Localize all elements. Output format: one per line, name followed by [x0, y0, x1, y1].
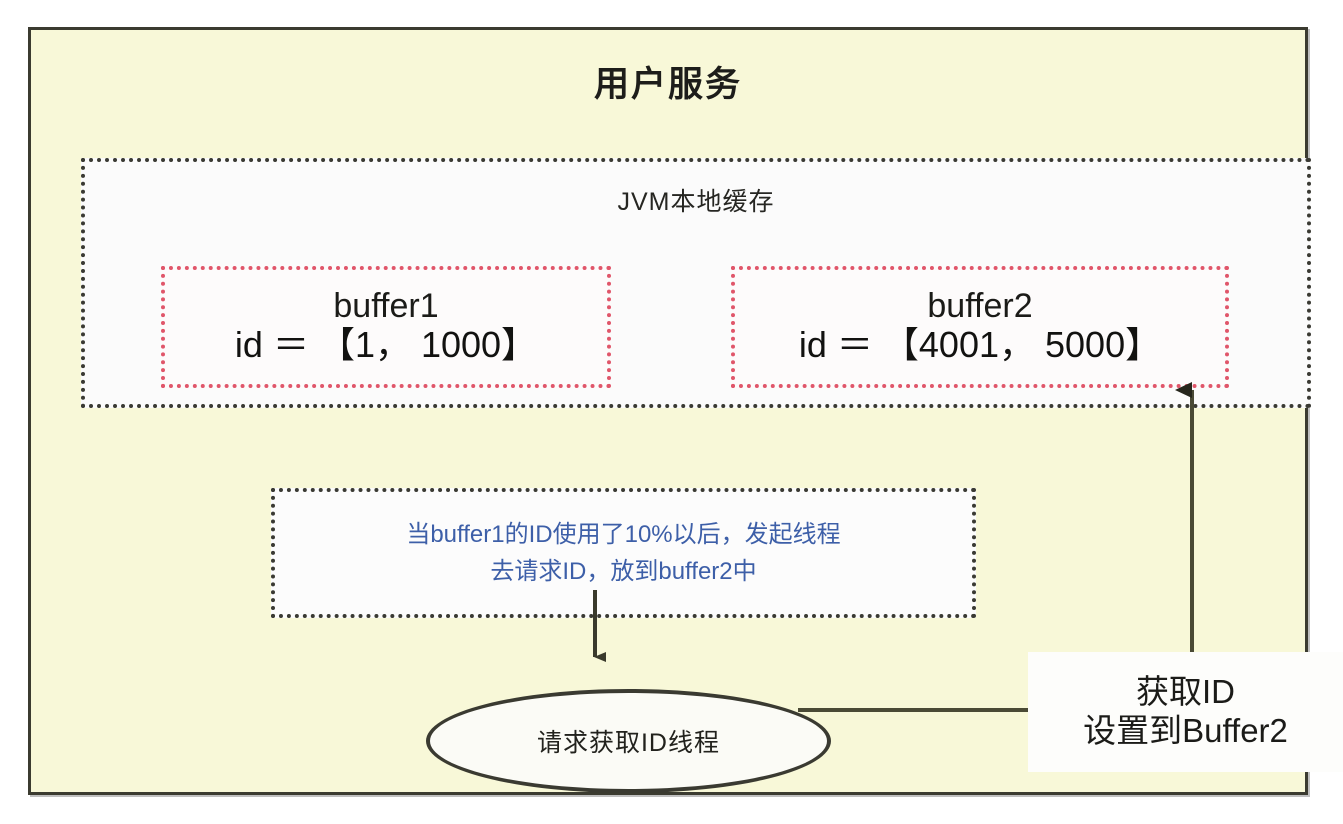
- jvm-local-cache-title: JVM本地缓存: [85, 182, 1307, 218]
- note-box: 当buffer1的ID使用了10%以后，发起线程 去请求ID，放到buffer2…: [271, 488, 976, 618]
- buffer1-name: buffer1: [333, 288, 438, 325]
- callout-line-2: 设置到Buffer2: [1083, 712, 1288, 751]
- buffer2-range: id ＝ 【4001， 5000】: [799, 325, 1161, 365]
- buffer2-name: buffer2: [927, 288, 1032, 325]
- note-line-2: 去请求ID，放到buffer2中: [490, 553, 756, 590]
- request-id-thread-label: 请求获取ID线程: [426, 689, 831, 793]
- note-line-1: 当buffer1的ID使用了10%以后，发起线程: [406, 516, 840, 553]
- buffer1-range: id ＝ 【1， 1000】: [235, 325, 537, 365]
- request-id-thread-node: 请求获取ID线程: [426, 689, 831, 793]
- page-title: 用户服务: [31, 56, 1305, 107]
- callout-get-id-set-buffer2: 获取ID 设置到Buffer2: [1028, 652, 1343, 772]
- callout-line-1: 获取ID: [1136, 673, 1235, 712]
- buffer2-box: buffer2 id ＝ 【4001， 5000】: [731, 266, 1229, 388]
- buffer1-box: buffer1 id ＝ 【1， 1000】: [161, 266, 611, 388]
- diagram-canvas: 用户服务 JVM本地缓存 buffer1 id ＝ 【1， 1000】 buff…: [0, 0, 1343, 824]
